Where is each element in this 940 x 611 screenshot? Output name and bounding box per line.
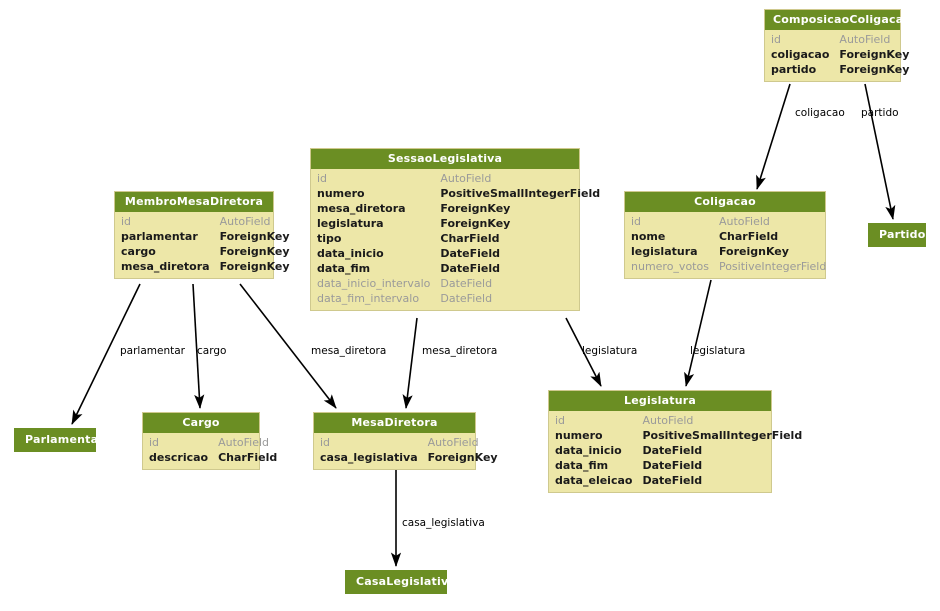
field-name: nome [631, 229, 719, 244]
field-name: mesa_diretora [317, 201, 440, 216]
edge-label-mesadiretora-to-casalegislativa: casa_legislativa [402, 518, 485, 529]
field-type: PositiveSmallIntegerField [440, 186, 600, 201]
field-name: id [631, 214, 719, 229]
entity-field-row: nomeCharField [631, 229, 826, 244]
field-type: AutoField [440, 171, 600, 186]
field-name: legislatura [631, 244, 719, 259]
edge-label-sessaolegislativa-to-legislatura: legislatura [582, 346, 637, 357]
entity-title: Cargo [143, 413, 259, 433]
entity-field-row: idAutoField [555, 413, 802, 428]
field-name: cargo [121, 244, 220, 259]
field-type: DateField [642, 458, 802, 473]
entity-field-row: idAutoField [320, 435, 498, 450]
field-name: data_inicio [317, 246, 440, 261]
field-name: legislatura [317, 216, 440, 231]
field-type: CharField [440, 231, 600, 246]
entity-title: ComposicaoColigacao [765, 10, 900, 30]
entity-field-row: data_fim_intervaloDateField [317, 291, 600, 306]
entity-field-row: parlamentarForeignKey [121, 229, 290, 244]
entity-field-row: cargoForeignKey [121, 244, 290, 259]
entity-title: Legislatura [549, 391, 771, 411]
entity-field-row: idAutoField [771, 32, 909, 47]
entity-field-row: numeroPositiveSmallIntegerField [555, 428, 802, 443]
entity-field-row: idAutoField [121, 214, 290, 229]
field-type: DateField [642, 443, 802, 458]
field-name: partido [771, 62, 839, 77]
entity-title: SessaoLegislativa [311, 149, 579, 169]
field-type: AutoField [428, 435, 498, 450]
field-type: ForeignKey [839, 47, 909, 62]
field-type: PositiveSmallIntegerField [642, 428, 802, 443]
field-type: AutoField [642, 413, 802, 428]
entity-sessaolegislativa[interactable]: SessaoLegislativaidAutoFieldnumeroPositi… [310, 148, 580, 311]
field-type: ForeignKey [428, 450, 498, 465]
field-type: DateField [440, 276, 600, 291]
er-diagram-canvas: ComposicaoColigacaoidAutoFieldcoligacaoF… [0, 0, 940, 611]
field-name: data_inicio_intervalo [317, 276, 440, 291]
entity-field-list: idAutoFielddescricaoCharField [143, 433, 259, 469]
entity-field-row: numero_votosPositiveIntegerField [631, 259, 826, 274]
field-type: CharField [719, 229, 826, 244]
entity-field-row: descricaoCharField [149, 450, 277, 465]
entity-legislatura[interactable]: LegislaturaidAutoFieldnumeroPositiveSmal… [548, 390, 772, 493]
entity-title: Coligacao [625, 192, 825, 212]
entity-title: MembroMesaDiretora [115, 192, 273, 212]
entity-field-row: idAutoField [149, 435, 277, 450]
entity-field-row: coligacaoForeignKey [771, 47, 909, 62]
edge-label-membromesadiretora-to-cargo: cargo [197, 346, 226, 357]
entity-cargo[interactable]: CargoidAutoFielddescricaoCharField [142, 412, 260, 470]
entity-field-row: legislaturaForeignKey [631, 244, 826, 259]
entity-field-row: data_inicioDateField [555, 443, 802, 458]
field-type: AutoField [220, 214, 290, 229]
field-name: id [317, 171, 440, 186]
field-type: ForeignKey [220, 259, 290, 274]
field-name: parlamentar [121, 229, 220, 244]
field-name: numero [317, 186, 440, 201]
entity-parlamentar[interactable]: Parlamentar [14, 428, 96, 452]
entity-field-row: tipoCharField [317, 231, 600, 246]
field-type: ForeignKey [440, 216, 600, 231]
edge-coligacao-to-legislatura [686, 280, 711, 386]
entity-field-list: idAutoFieldnomeCharFieldlegislaturaForei… [625, 212, 825, 278]
edge-composicaocoligacao-to-coligacao [757, 84, 790, 189]
entity-field-row: data_fimDateField [317, 261, 600, 276]
entity-partido[interactable]: Partido [868, 223, 926, 247]
field-name: id [149, 435, 218, 450]
field-name: descricao [149, 450, 218, 465]
entity-field-row: idAutoField [317, 171, 600, 186]
entity-mesadiretora[interactable]: MesaDiretoraidAutoFieldcasa_legislativaF… [313, 412, 476, 470]
field-name: id [121, 214, 220, 229]
edge-label-membromesadiretora-to-mesadiretora: mesa_diretora [311, 346, 386, 357]
field-name: id [555, 413, 642, 428]
edge-label-coligacao-to-legislatura: legislatura [690, 346, 745, 357]
entity-field-row: idAutoField [631, 214, 826, 229]
entity-field-row: mesa_diretoraForeignKey [317, 201, 600, 216]
field-name: casa_legislativa [320, 450, 428, 465]
entity-title: Partido [869, 224, 925, 246]
field-name: data_fim [317, 261, 440, 276]
field-type: DateField [440, 246, 600, 261]
entity-field-row: numeroPositiveSmallIntegerField [317, 186, 600, 201]
field-type: ForeignKey [220, 244, 290, 259]
entity-field-list: idAutoFieldnumeroPositiveSmallIntegerFie… [549, 411, 771, 492]
entity-casalegislativa[interactable]: CasaLegislativa [345, 570, 447, 594]
edge-label-composicaocoligacao-to-partido: partido [861, 108, 899, 119]
field-type: AutoField [719, 214, 826, 229]
field-name: id [320, 435, 428, 450]
entity-field-row: data_inicioDateField [317, 246, 600, 261]
field-type: DateField [440, 261, 600, 276]
field-type: ForeignKey [440, 201, 600, 216]
entity-title: Parlamentar [15, 429, 95, 451]
field-type: DateField [440, 291, 600, 306]
entity-field-list: idAutoFieldnumeroPositiveSmallIntegerFie… [311, 169, 579, 310]
field-type: DateField [642, 473, 802, 488]
field-name: numero_votos [631, 259, 719, 274]
entity-title: CasaLegislativa [346, 571, 446, 593]
field-name: data_inicio [555, 443, 642, 458]
entity-title: MesaDiretora [314, 413, 475, 433]
field-name: numero [555, 428, 642, 443]
field-name: coligacao [771, 47, 839, 62]
field-name: data_eleicao [555, 473, 642, 488]
entity-field-row: legislaturaForeignKey [317, 216, 600, 231]
edge-composicaocoligacao-to-partido [865, 84, 893, 219]
field-type: AutoField [218, 435, 277, 450]
entity-coligacao[interactable]: ColigacaoidAutoFieldnomeCharFieldlegisla… [624, 191, 826, 279]
field-type: CharField [218, 450, 277, 465]
field-type: ForeignKey [719, 244, 826, 259]
entity-field-list: idAutoFieldparlamentarForeignKeycargoFor… [115, 212, 273, 278]
edge-label-composicaocoligacao-to-coligacao: coligacao [795, 108, 845, 119]
field-name: tipo [317, 231, 440, 246]
field-type: PositiveIntegerField [719, 259, 826, 274]
field-type: AutoField [839, 32, 909, 47]
edge-sessaolegislativa-to-mesadiretora [406, 318, 417, 408]
entity-composicaocoligacao[interactable]: ComposicaoColigacaoidAutoFieldcoligacaoF… [764, 9, 901, 82]
entity-field-row: data_fimDateField [555, 458, 802, 473]
entity-field-list: idAutoFieldcoligacaoForeignKeypartidoFor… [765, 30, 900, 81]
entity-field-row: casa_legislativaForeignKey [320, 450, 498, 465]
entity-membromesadiretora[interactable]: MembroMesaDiretoraidAutoFieldparlamentar… [114, 191, 274, 279]
entity-field-row: partidoForeignKey [771, 62, 909, 77]
entity-field-list: idAutoFieldcasa_legislativaForeignKey [314, 433, 475, 469]
field-type: ForeignKey [839, 62, 909, 77]
edge-label-sessaolegislativa-to-mesadiretora: mesa_diretora [422, 346, 497, 357]
field-name: mesa_diretora [121, 259, 220, 274]
edge-label-membromesadiretora-to-parlamentar: parlamentar [120, 346, 185, 357]
entity-field-row: data_eleicaoDateField [555, 473, 802, 488]
field-name: data_fim_intervalo [317, 291, 440, 306]
entity-field-row: mesa_diretoraForeignKey [121, 259, 290, 274]
field-name: id [771, 32, 839, 47]
field-name: data_fim [555, 458, 642, 473]
entity-field-row: data_inicio_intervaloDateField [317, 276, 600, 291]
field-type: ForeignKey [220, 229, 290, 244]
